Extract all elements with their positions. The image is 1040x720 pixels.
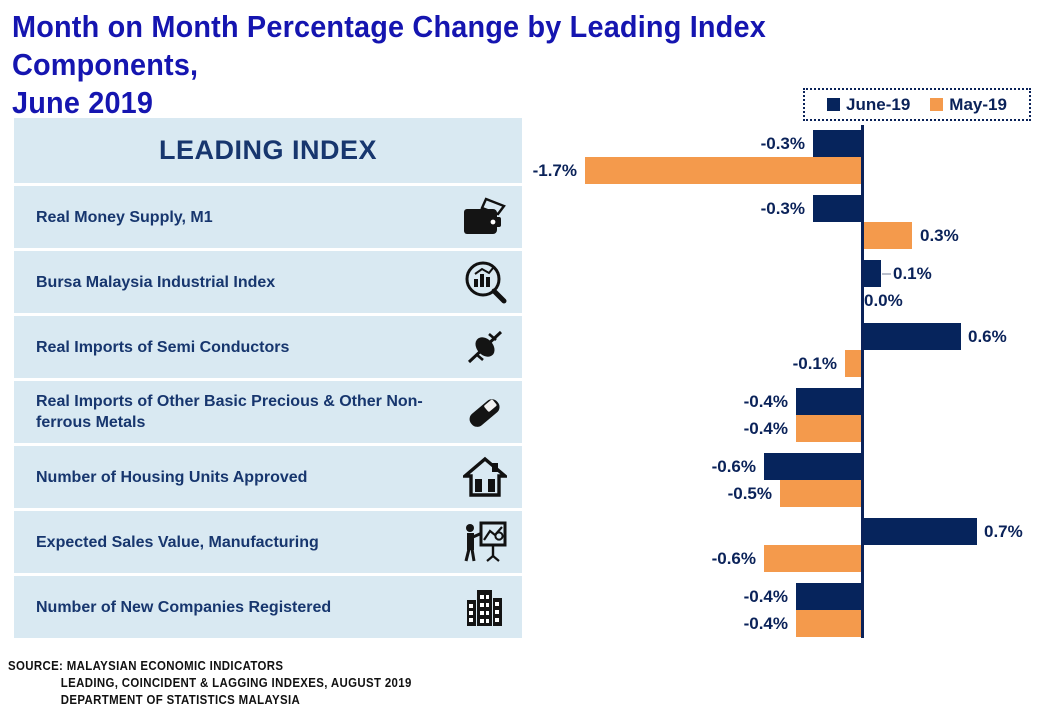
table-row[interactable]: Number of Housing Units Approved bbox=[14, 446, 522, 508]
bar-label-june-precious-metals: -0.4% bbox=[696, 388, 788, 415]
bar-label-may-precious-metals: -0.4% bbox=[696, 415, 788, 442]
bar-label-may-semi-conductors: -0.1% bbox=[743, 350, 837, 377]
table-row-label: Real Imports of Other Basic Precious & O… bbox=[36, 391, 450, 433]
metal-bar-icon bbox=[460, 389, 510, 435]
bar-june-expected-sales[interactable] bbox=[864, 518, 977, 545]
bar-may-semi-conductors[interactable] bbox=[845, 350, 861, 377]
bar-chart: -0.3% -1.7% -0.3% 0.3% 0.1% 0.0% 0.6% -0… bbox=[530, 125, 1040, 645]
table-row-label: Real Imports of Semi Conductors bbox=[36, 337, 289, 358]
bar-june-precious-metals[interactable] bbox=[796, 388, 861, 415]
table-row-label: Number of New Companies Registered bbox=[36, 597, 331, 618]
bar-june-new-companies[interactable] bbox=[796, 583, 861, 610]
zero-axis-line bbox=[861, 125, 864, 638]
bar-label-may-real-money-supply: 0.3% bbox=[920, 222, 959, 249]
bar-label-june-bursa-index: 0.1% bbox=[893, 260, 932, 287]
bar-june-housing-units[interactable] bbox=[764, 453, 861, 480]
bar-label-may-bursa-index: 0.0% bbox=[864, 287, 903, 314]
bar-may-leading-index[interactable] bbox=[585, 157, 861, 184]
presenter-chart-icon bbox=[460, 519, 510, 565]
source-line-2: LEADING, COINCIDENT & LAGGING INDEXES, A… bbox=[8, 674, 536, 691]
source-note: SOURCE: MALAYSIAN ECONOMIC INDICATORS LE… bbox=[8, 657, 536, 708]
legend-swatch-icon-may bbox=[930, 98, 943, 111]
bar-label-june-housing-units: -0.6% bbox=[664, 453, 756, 480]
table-row[interactable]: Real Imports of Other Basic Precious & O… bbox=[14, 381, 522, 443]
legend-item-may[interactable]: May-19 bbox=[930, 95, 1007, 115]
bar-label-june-new-companies: -0.4% bbox=[696, 583, 788, 610]
bar-may-new-companies[interactable] bbox=[796, 610, 861, 637]
bar-june-semi-conductors[interactable] bbox=[864, 323, 961, 350]
bar-may-real-money-supply[interactable] bbox=[864, 222, 912, 249]
legend-item-june[interactable]: June-19 bbox=[827, 95, 910, 115]
magnifier-chart-icon bbox=[460, 259, 510, 305]
bar-label-may-expected-sales: -0.6% bbox=[664, 545, 756, 572]
table-row[interactable]: Expected Sales Value, Manufacturing bbox=[14, 511, 522, 573]
plug-icon bbox=[460, 324, 510, 370]
leading-index-table: LEADING INDEX Real Money Supply, M1 Burs… bbox=[14, 118, 522, 641]
bar-label-may-housing-units: -0.5% bbox=[680, 480, 772, 507]
bar-june-bursa-index[interactable] bbox=[864, 260, 881, 287]
bar-june-leading-index[interactable] bbox=[813, 130, 861, 157]
table-row[interactable]: Real Money Supply, M1 bbox=[14, 186, 522, 248]
legend-swatch-icon-june bbox=[827, 98, 840, 111]
table-row-label: Real Money Supply, M1 bbox=[36, 207, 213, 228]
bar-may-expected-sales[interactable] bbox=[764, 545, 861, 572]
table-row-label: Expected Sales Value, Manufacturing bbox=[36, 532, 319, 553]
table-row-label: Number of Housing Units Approved bbox=[36, 467, 307, 488]
bar-may-housing-units[interactable] bbox=[780, 480, 861, 507]
house-icon bbox=[460, 454, 510, 500]
bar-label-may-new-companies: -0.4% bbox=[696, 610, 788, 637]
table-row-label: Bursa Malaysia Industrial Index bbox=[36, 272, 275, 293]
source-line-1: SOURCE: MALAYSIAN ECONOMIC INDICATORS bbox=[8, 657, 536, 674]
bar-label-june-expected-sales: 0.7% bbox=[984, 518, 1023, 545]
bar-label-june-leading-index: -0.3% bbox=[713, 130, 805, 157]
table-row[interactable]: Number of New Companies Registered bbox=[14, 576, 522, 638]
bar-may-precious-metals[interactable] bbox=[796, 415, 861, 442]
wallet-icon bbox=[460, 194, 510, 240]
table-header-title: LEADING INDEX bbox=[159, 135, 377, 166]
bar-label-may-leading-index: -1.7% bbox=[485, 157, 577, 184]
table-row[interactable]: Real Imports of Semi Conductors bbox=[14, 316, 522, 378]
office-buildings-icon bbox=[460, 584, 510, 630]
bar-label-june-real-money-supply: -0.3% bbox=[713, 195, 805, 222]
table-row[interactable]: Bursa Malaysia Industrial Index bbox=[14, 251, 522, 313]
source-line-3: DEPARTMENT OF STATISTICS MALAYSIA bbox=[8, 691, 536, 708]
tick-mark-icon bbox=[882, 273, 891, 275]
table-header-row: LEADING INDEX bbox=[14, 118, 522, 183]
legend-label-may: May-19 bbox=[949, 95, 1007, 115]
legend-label-june: June-19 bbox=[846, 95, 910, 115]
bar-label-june-semi-conductors: 0.6% bbox=[968, 323, 1007, 350]
chart-legend: June-19 May-19 bbox=[803, 88, 1031, 121]
bar-june-real-money-supply[interactable] bbox=[813, 195, 861, 222]
